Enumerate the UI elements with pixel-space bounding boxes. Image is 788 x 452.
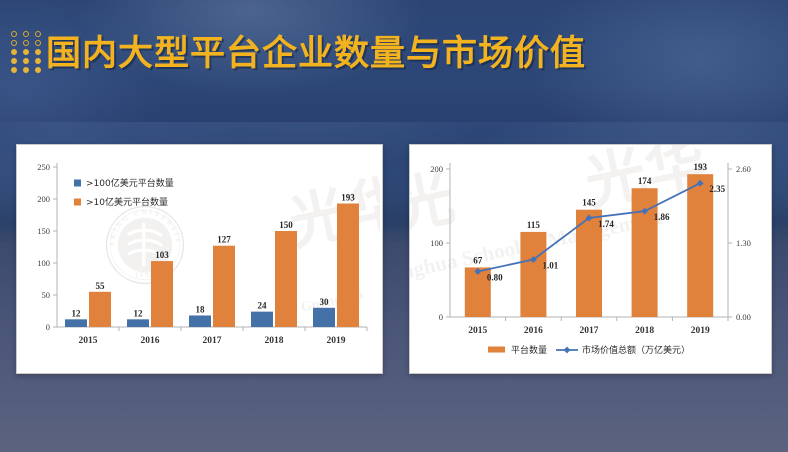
bar-orange [687,174,713,317]
y-axis-right-tick-label: 0.00 [736,312,751,322]
line-value-label: 0.80 [487,272,503,282]
bar-orange [151,261,173,327]
page-title: 国内大型平台企业数量与市场价值 [46,32,586,76]
x-axis-category-label: 2018 [635,326,654,336]
guanghua-watermark: 光华 [283,166,380,258]
y-axis-left-tick-label: 200 [430,164,443,174]
legend-label: 市场价值总额（万亿美元） [582,344,690,356]
y-axis-tick-label: 250 [37,162,50,172]
right-chart: 光华Guanghua School of Management光01002000… [410,145,769,371]
chart-legend: 平台数量市场价值总额（万亿美元） [488,344,690,356]
y-axis-right-tick-label: 1.30 [736,238,751,248]
chart-legend: >100亿美元平台数量>10亿美元平台数量 [74,177,174,208]
legend-label: >10亿美元平台数量 [86,196,168,208]
bar-orange [89,292,111,327]
legend-swatch [74,199,81,206]
x-axis-category-label: 2015 [79,336,98,346]
x-axis-category-label: 2018 [265,336,284,346]
dot-grid-decoration-icon [9,30,43,74]
right-chart-panel: 光华Guanghua School of Management光01002000… [409,144,772,374]
bar-blue [65,319,87,327]
line-value-label: 1.74 [598,219,614,229]
bar-value-label: 193 [341,192,355,202]
y-axis-left-tick-label: 100 [430,238,443,248]
y-axis-tick-label: 0 [46,322,50,332]
bar-value-label: 12 [72,308,82,318]
y-axis-tick-label: 100 [37,258,50,268]
svg-text:光华: 光华 [283,166,380,258]
left-chart: PEKING UNIVERSITY1898光华Guanghua050100150… [17,145,380,371]
bar-value-label: 55 [96,281,106,291]
bar-value-label: 18 [196,304,206,314]
bar-value-label: 103 [155,250,169,260]
guanghua-watermark-calligraphy: 光 [410,163,460,244]
bar-blue [127,319,149,327]
bar-orange [213,246,235,327]
y-axis-tick-label: 50 [42,290,51,300]
x-axis-category-label: 2017 [580,326,599,336]
legend-marker [564,347,571,354]
left-chart-panel: PEKING UNIVERSITY1898光华Guanghua050100150… [16,144,383,374]
bar-value-label: 193 [693,162,707,172]
legend-swatch-bar [488,347,505,353]
bar-blue [251,312,273,327]
bar-value-label: 67 [473,255,483,265]
line-value-label: 1.01 [543,261,559,271]
legend-label: >100亿美元平台数量 [86,177,174,189]
line-value-label: 2.35 [709,184,725,194]
x-axis-category-label: 2017 [203,336,222,346]
x-axis-category-label: 2016 [141,336,160,346]
bar-value-label: 12 [134,308,144,318]
y-axis-left-tick-label: 0 [439,312,443,322]
slide-root: 国内大型平台企业数量与市场价值 PEKING UNIVERSITY1898光华G… [0,0,788,452]
line-value-label: 1.86 [654,212,670,222]
legend-swatch [74,180,81,187]
bar-blue [189,315,211,327]
legend-label: 平台数量 [511,344,547,356]
bar-orange [520,232,546,317]
bar-orange [337,203,359,327]
x-axis-category-label: 2019 [327,336,346,346]
slide-header: 国内大型平台企业数量与市场价值 [0,0,788,122]
bar-value-label: 30 [320,297,330,307]
x-axis-category-label: 2019 [691,326,710,336]
bar-orange [275,231,297,327]
y-axis-tick-label: 150 [37,226,50,236]
y-axis-tick-label: 200 [37,194,50,204]
bar-value-label: 115 [527,220,541,230]
x-axis-category-label: 2016 [524,326,543,336]
bar-value-label: 150 [279,220,293,230]
bar-blue [313,308,335,327]
bar-value-label: 127 [217,235,231,245]
x-axis-category-label: 2015 [468,326,487,336]
bar-value-label: 174 [638,176,652,186]
y-axis-right-tick-label: 2.60 [736,164,751,174]
bar-value-label: 24 [258,301,268,311]
bar-value-label: 145 [582,198,596,208]
